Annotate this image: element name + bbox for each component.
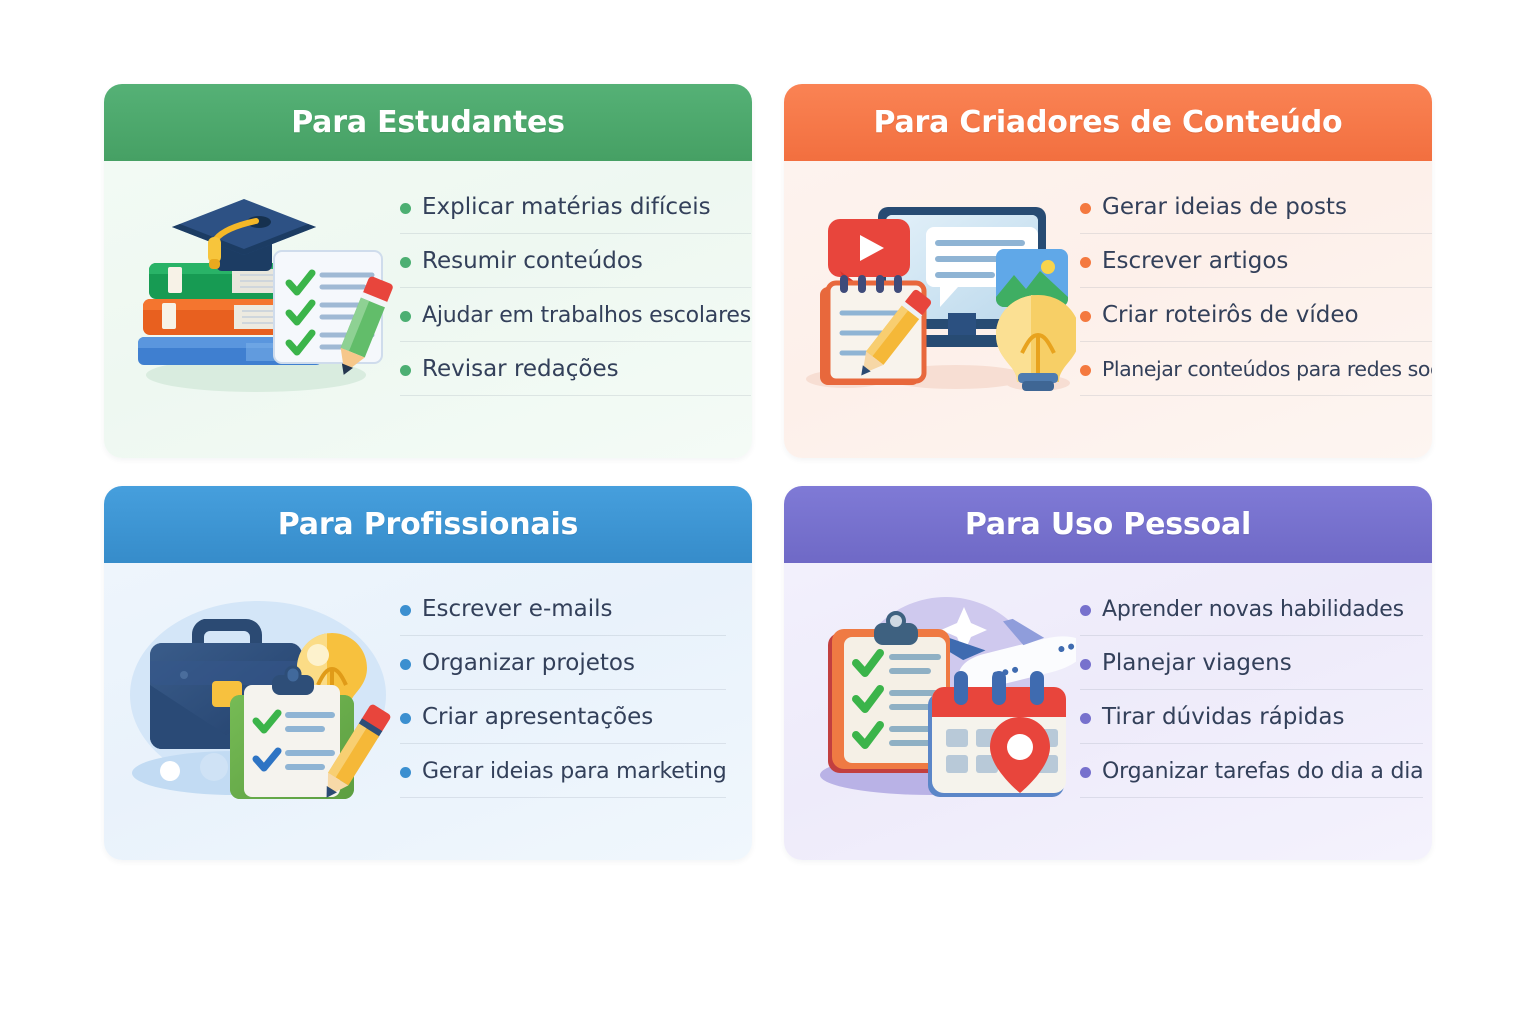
card-header-creators: Para Criadores de Conteúdo bbox=[784, 84, 1432, 161]
card-body-personal: Aprender novas habilidades Planejar viag… bbox=[784, 563, 1432, 860]
card-para-criadores-de-conteudo[interactable]: Para Criadores de Conteúdo bbox=[784, 84, 1432, 458]
list-item[interactable]: Escrever e-mails bbox=[400, 596, 726, 636]
list-item[interactable]: Ajudar em trabalhos escolares bbox=[400, 302, 751, 342]
clipboard-airplane-calendar-location-pin-icon bbox=[806, 589, 1076, 801]
list-item-label: Planejar viagens bbox=[1102, 650, 1292, 677]
list-item[interactable]: Organizar projetos bbox=[400, 650, 726, 690]
list-item-label: Criar apresentações bbox=[422, 704, 653, 731]
bullet-dot-icon bbox=[1080, 659, 1091, 670]
list-item[interactable]: Tirar dúvidas rápidas bbox=[1080, 704, 1423, 744]
list-item-label: Criar roteirôs de vídeo bbox=[1102, 302, 1359, 329]
bullet-dot-icon bbox=[400, 767, 411, 778]
card-title-professionals: Para Profissionais bbox=[278, 507, 578, 542]
illustration-wrap-creators bbox=[784, 161, 1080, 458]
list-item[interactable]: Planejar conteúdos para redes sociais bbox=[1080, 356, 1432, 396]
list-item[interactable]: Resumir conteúdos bbox=[400, 248, 751, 288]
card-body-professionals: Escrever e-mails Organizar projetos Cria… bbox=[104, 563, 752, 860]
bullet-dot-icon bbox=[400, 605, 411, 616]
bullet-dot-icon bbox=[1080, 257, 1091, 268]
illustration-wrap-professionals bbox=[104, 563, 400, 860]
card-title-personal: Para Uso Pessoal bbox=[965, 507, 1251, 542]
list-item[interactable]: Explicar matérias difíceis bbox=[400, 194, 751, 234]
bullet-dot-icon bbox=[400, 659, 411, 670]
monitor-video-play-notepad-lightbulb-icon bbox=[806, 187, 1076, 399]
list-item-label: Revisar redações bbox=[422, 356, 619, 383]
illustration-wrap-students bbox=[104, 161, 400, 458]
list-item-label: Escrever artigos bbox=[1102, 248, 1288, 275]
bullet-dot-icon bbox=[400, 311, 411, 322]
card-para-estudantes[interactable]: Para Estudantes bbox=[104, 84, 752, 458]
list-item-label: Planejar conteúdos para redes sociais bbox=[1102, 356, 1432, 383]
bullet-dot-icon bbox=[400, 713, 411, 724]
card-para-uso-pessoal[interactable]: Para Uso Pessoal bbox=[784, 486, 1432, 860]
list-item-label: Organizar projetos bbox=[422, 650, 635, 677]
list-item[interactable]: Planejar viagens bbox=[1080, 650, 1423, 690]
list-item-label: Gerar ideias para marketing bbox=[422, 758, 726, 785]
illustration-wrap-personal bbox=[784, 563, 1080, 860]
bullet-dot-icon bbox=[400, 365, 411, 376]
card-body-creators: Gerar ideias de posts Escrever artigos C… bbox=[784, 161, 1432, 458]
list-item-label: Escrever e-mails bbox=[422, 596, 613, 623]
bullet-dot-icon bbox=[1080, 203, 1091, 214]
benefit-list-students: Explicar matérias difíceis Resumir conte… bbox=[400, 161, 752, 396]
card-title-students: Para Estudantes bbox=[291, 105, 565, 140]
infographic-canvas: Para Estudantes bbox=[0, 0, 1536, 1024]
card-header-professionals: Para Profissionais bbox=[104, 486, 752, 563]
list-item[interactable]: Revisar redações bbox=[400, 356, 751, 396]
card-header-personal: Para Uso Pessoal bbox=[784, 486, 1432, 563]
benefit-list-professionals: Escrever e-mails Organizar projetos Cria… bbox=[400, 563, 752, 798]
list-item-label: Gerar ideias de posts bbox=[1102, 194, 1347, 221]
bullet-dot-icon bbox=[400, 203, 411, 214]
card-body-students: Explicar matérias difíceis Resumir conte… bbox=[104, 161, 752, 458]
list-item[interactable]: Aprender novas habilidades bbox=[1080, 596, 1423, 636]
list-item[interactable]: Criar roteirôs de vídeo bbox=[1080, 302, 1432, 342]
bullet-dot-icon bbox=[1080, 365, 1091, 376]
card-header-students: Para Estudantes bbox=[104, 84, 752, 161]
list-item-label: Tirar dúvidas rápidas bbox=[1102, 704, 1344, 731]
benefit-list-personal: Aprender novas habilidades Planejar viag… bbox=[1080, 563, 1432, 798]
list-item-label: Explicar matérias difíceis bbox=[422, 194, 711, 221]
benefit-list-creators: Gerar ideias de posts Escrever artigos C… bbox=[1080, 161, 1432, 396]
card-grid: Para Estudantes bbox=[104, 84, 1432, 876]
list-item[interactable]: Gerar ideias para marketing bbox=[400, 758, 726, 798]
briefcase-clipboard-lightbulb-pencil-icon bbox=[126, 589, 396, 801]
list-item[interactable]: Organizar tarefas do dia a dia bbox=[1080, 758, 1423, 798]
list-item-label: Organizar tarefas do dia a dia bbox=[1102, 758, 1423, 785]
list-item-label: Resumir conteúdos bbox=[422, 248, 643, 275]
card-para-profissionais[interactable]: Para Profissionais bbox=[104, 486, 752, 860]
list-item-label: Aprender novas habilidades bbox=[1102, 596, 1404, 623]
graduation-cap-books-checklist-pencil-icon bbox=[126, 187, 396, 399]
bullet-dot-icon bbox=[1080, 311, 1091, 322]
list-item[interactable]: Gerar ideias de posts bbox=[1080, 194, 1432, 234]
bullet-dot-icon bbox=[400, 257, 411, 268]
bullet-dot-icon bbox=[1080, 605, 1091, 616]
bullet-dot-icon bbox=[1080, 713, 1091, 724]
list-item[interactable]: Criar apresentações bbox=[400, 704, 726, 744]
list-item-label: Ajudar em trabalhos escolares bbox=[422, 302, 751, 329]
list-item[interactable]: Escrever artigos bbox=[1080, 248, 1432, 288]
card-title-creators: Para Criadores de Conteúdo bbox=[874, 105, 1343, 140]
bullet-dot-icon bbox=[1080, 767, 1091, 778]
